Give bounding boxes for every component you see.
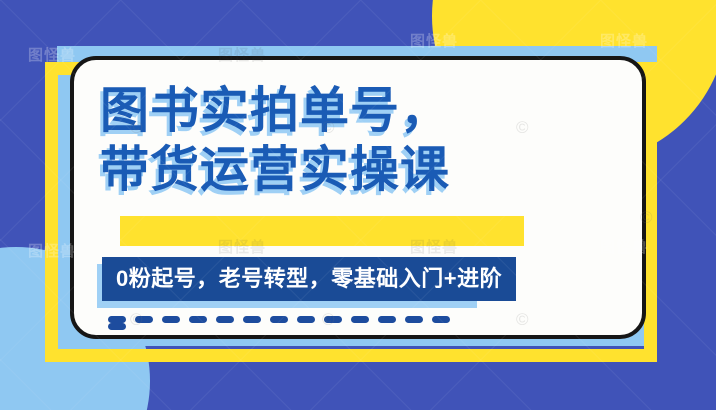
dash-segment	[351, 316, 369, 323]
dash-segment	[324, 316, 342, 323]
dash-segment	[162, 316, 180, 323]
dash-segment	[378, 316, 396, 323]
dash-segment	[108, 316, 126, 323]
subtitle-banner: 0粉起号，老号转型，零基础入门+进阶	[102, 257, 516, 301]
dash-segment	[270, 316, 288, 323]
dash-segment	[189, 316, 207, 323]
title-yellow-highlight	[120, 216, 524, 246]
dash-segment	[135, 316, 153, 323]
title-block: 图书实拍单号， 带货运营实操课	[100, 82, 620, 200]
promo-poster: 图书实拍单号， 带货运营实操课 0粉起号，老号转型，零基础入门+进阶 图怪兽图怪…	[0, 0, 716, 410]
card-content: 图书实拍单号， 带货运营实操课 0粉起号，老号转型，零基础入门+进阶	[74, 60, 642, 335]
dash-segment	[243, 316, 261, 323]
dash-segment	[297, 316, 315, 323]
title-line-2: 带货运营实操课	[100, 141, 620, 200]
dash-segment	[216, 316, 234, 323]
dash-segment	[108, 323, 126, 330]
title-line-1: 图书实拍单号，	[100, 82, 620, 141]
dashed-divider	[108, 316, 480, 323]
dash-segment	[405, 316, 423, 323]
subtitle-block: 0粉起号，老号转型，零基础入门+进阶	[102, 257, 516, 301]
dash-segment	[432, 316, 450, 323]
content-card: 图书实拍单号， 带货运营实操课 0粉起号，老号转型，零基础入门+进阶	[70, 56, 646, 339]
